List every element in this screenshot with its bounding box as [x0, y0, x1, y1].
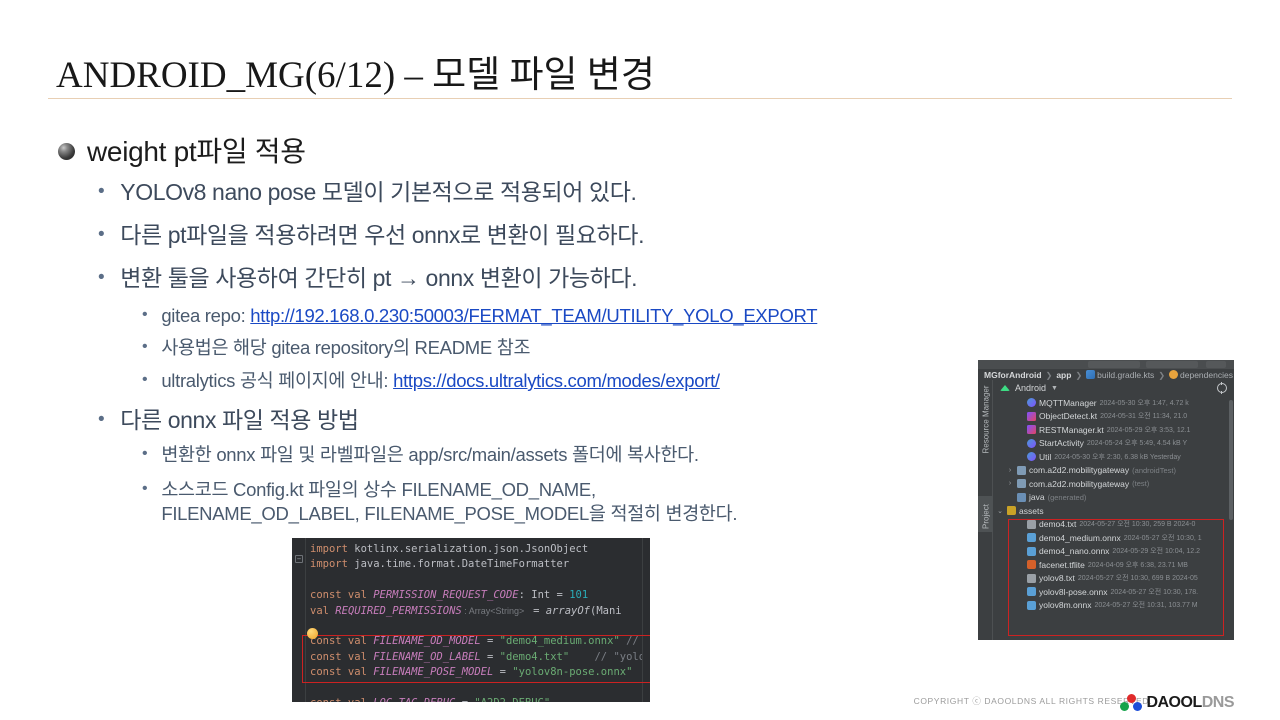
breadcrumb-item[interactable]: MGforAndroid [984, 370, 1042, 380]
tree-item-name: assets [1019, 506, 1044, 516]
bullet-dot-icon: • [98, 178, 104, 206]
tree-item-meta: 2024-05-27 오전 10:31, 103.77 M [1094, 600, 1197, 610]
code-editor-screenshot: − import kotlinx.serialization.json.Json… [292, 538, 650, 702]
logo-mark-icon [1120, 694, 1142, 712]
tree-item-qualifier: (generated) [1048, 493, 1087, 502]
breadcrumb-label: dependencies [1180, 370, 1233, 380]
code-token: : Int = [519, 589, 570, 601]
tab-project[interactable]: Project [982, 500, 991, 534]
code-token: : Array<String> [462, 606, 527, 616]
breadcrumb-item[interactable]: build.gradle.kts [1086, 370, 1154, 380]
breadcrumb: MGforAndroid❯app❯build.gradle.kts❯depend… [984, 370, 1233, 380]
code-line [310, 573, 645, 588]
bullet-label: YOLOv8 nano pose 모델이 기본적으로 적용되어 있다. [120, 178, 636, 208]
code-line: import java.time.format.DateTimeFormatte… [310, 557, 645, 572]
sub-bullet-label: 소스코드 Config.kt 파일의 상수 FILENAME_OD_NAME, … [161, 478, 991, 527]
package-icon [1017, 479, 1026, 488]
kt-class-icon [1027, 398, 1036, 407]
expand-arrow-icon[interactable]: ⌄ [996, 507, 1004, 515]
tree-item-meta: 2024-05-27 오전 10:30, 178. [1111, 587, 1199, 597]
code-line [310, 619, 645, 634]
bullet-dot-icon: • [98, 406, 104, 434]
tree-item-name: MQTTManager [1039, 398, 1097, 408]
kt-file-icon [1027, 412, 1036, 421]
toolbar-pill-2[interactable] [1146, 361, 1198, 368]
tree-row[interactable]: java(generated) [994, 491, 1234, 505]
tree-item-name: ObjectDetect.kt [1039, 411, 1097, 421]
code-token: PERMISSION_REQUEST_CODE [373, 589, 518, 601]
logo-circle-blue [1133, 702, 1142, 711]
gitea-repo-link[interactable]: http://192.168.0.230:50003/FERMAT_TEAM/U… [250, 305, 817, 326]
logo-word-gray: DNS [1202, 694, 1234, 711]
logo-circle-green [1120, 702, 1129, 711]
onnx-icon [1027, 601, 1036, 610]
breadcrumb-label: MGforAndroid [984, 370, 1042, 380]
code-line: const val LOG_TAG_DEBUG = "A2D2_DEBUG" [310, 696, 645, 702]
tree-row[interactable]: yolov8m.onnx2024-05-27 오전 10:31, 103.77 … [994, 599, 1234, 613]
code-token: = [527, 605, 546, 617]
tree-item-meta: 2024-05-27 오전 10:30, 1 [1124, 533, 1202, 543]
tree-row[interactable]: ObjectDetect.kt2024-05-31 오전 11:34, 21.0 [994, 410, 1234, 424]
toolbar-pill-3[interactable] [1206, 361, 1226, 368]
ide-left-toolwindow-bar: Resource Manager Project [978, 380, 993, 640]
bullet-item-3: • 변환 툴을 사용하여 간단히 pt → onnx 변환이 가능하다. [98, 264, 637, 294]
breadcrumb-separator-icon: ❯ [1075, 371, 1082, 380]
gear-icon[interactable] [1217, 383, 1227, 393]
company-logo: DAOOLDNS [1120, 694, 1234, 712]
tree-item-meta: 2024-05-29 오후 3:53, 12.1 [1107, 425, 1191, 435]
bullet-dot-icon: • [142, 304, 147, 326]
tree-item-name: yolov8.txt [1039, 573, 1075, 583]
tree-item-meta: 2024-05-24 오후 5:49, 4.54 kB Y [1087, 438, 1187, 448]
tree-row[interactable]: ›com.a2d2.mobilitygateway(test) [994, 477, 1234, 491]
sub-bullet-label: gitea repo: http://192.168.0.230:50003/F… [161, 304, 817, 328]
onnx-icon [1027, 547, 1036, 556]
ide-top-toolbar [978, 360, 1234, 369]
project-view-header: Android ▼ [994, 380, 1234, 396]
onnx-icon [1027, 533, 1036, 542]
sub-bullet-ultralytics: • ultralytics 공식 페이지에 안내: https://docs.u… [142, 369, 720, 393]
sub-bullet-label: 변환한 onnx 파일 및 라벨파일은 app/src/main/assets … [161, 443, 698, 467]
tree-row[interactable]: demo4.txt2024-05-27 오전 10:30, 259 B 2024… [994, 518, 1234, 532]
sub-bullet-gitea-repo: • gitea repo: http://192.168.0.230:50003… [142, 304, 817, 328]
tree-item-meta: 2024-05-30 오후 2:30, 6.38 kB Yesterday [1054, 452, 1181, 462]
expand-arrow-icon[interactable]: › [1006, 467, 1014, 474]
tree-item-name: yolov8l-pose.onnx [1039, 587, 1108, 597]
tree-item-meta: 2024-05-30 오후 1:47, 4.72 k [1100, 398, 1189, 408]
code-token: = [455, 697, 474, 702]
tree-item-meta: 2024-05-27 오전 10:30, 699 B 2024-05 [1078, 573, 1198, 583]
tree-scrollbar[interactable] [1229, 400, 1233, 520]
tree-item-name: demo4_nano.onnx [1039, 546, 1109, 556]
breadcrumb-label: build.gradle.kts [1097, 370, 1154, 380]
bullet-item-1: • YOLOv8 nano pose 모델이 기본적으로 적용되어 있다. [98, 178, 636, 208]
sub-bullet-readme: • 사용법은 해당 gitea repository의 README 참조 [142, 336, 530, 360]
code-token: 101 [569, 589, 588, 601]
code-token: const val [310, 697, 373, 702]
expand-arrow-icon[interactable]: › [1006, 480, 1014, 487]
tree-row[interactable]: Util2024-05-30 오후 2:30, 6.38 kB Yesterda… [994, 450, 1234, 464]
tree-item-name: com.a2d2.mobilitygateway [1029, 479, 1129, 489]
tree-item-qualifier: (androidTest) [1132, 466, 1176, 475]
tree-item-meta: 2024-04-09 오후 6:38, 23.71 MB [1088, 560, 1188, 570]
code-token: (Mani [590, 605, 622, 617]
tree-row[interactable]: RESTManager.kt2024-05-29 오후 3:53, 12.1 [994, 423, 1234, 437]
code-token: REQUIRED_PERMISSIONS [335, 605, 461, 617]
code-token: kotlinx.serialization.json.JsonObject [354, 543, 588, 555]
tree-item-name: com.a2d2.mobilitygateway [1029, 465, 1129, 475]
logo-word-dark: DAOOL [1146, 694, 1201, 711]
intention-bulb-icon[interactable] [307, 628, 318, 639]
project-view-mode-label[interactable]: Android [1015, 383, 1046, 393]
toolbar-pill-1[interactable] [1088, 361, 1140, 368]
code-line: const val PERMISSION_REQUEST_CODE: Int =… [310, 588, 645, 603]
code-line: import kotlinx.serialization.json.JsonOb… [310, 542, 645, 557]
code-token: import [310, 543, 354, 555]
section-heading-label: weight pt파일 적용 [87, 130, 306, 170]
java-gen-icon [1017, 493, 1026, 502]
folder-icon [1007, 506, 1016, 515]
page-title: ANDROID_MG(6/12) – 모델 파일 변경 [56, 44, 655, 98]
code-highlight-box [302, 635, 650, 683]
bullet-dot-icon: • [98, 221, 104, 249]
tree-item-name: java [1029, 492, 1045, 502]
onnx-icon [1027, 587, 1036, 596]
project-file-tree[interactable]: MQTTManager2024-05-30 오후 1:47, 4.72 kObj… [994, 396, 1234, 640]
txt-icon [1027, 574, 1036, 583]
bullet-dot-icon: • [142, 336, 147, 358]
logo-wordmark: DAOOLDNS [1146, 694, 1234, 712]
tree-item-meta: 2024-05-29 오전 10:04, 12.2 [1112, 546, 1200, 556]
breadcrumb-item[interactable]: dependencies [1169, 370, 1233, 380]
sphere-bullet-icon [58, 143, 75, 160]
bullet-item-2: • 다른 pt파일을 적용하려면 우선 onnx로 변환이 필요하다. [98, 221, 644, 251]
ultralytics-docs-link[interactable]: https://docs.ultralytics.com/modes/expor… [393, 370, 720, 391]
bullet-label: 변환 툴을 사용하여 간단히 pt → onnx 변환이 가능하다. [120, 264, 637, 294]
gradle-icon [1086, 370, 1095, 379]
bullet-label: 다른 onnx 파일 적용 방법 [120, 406, 358, 436]
tree-item-name: demo4.txt [1039, 519, 1076, 529]
breadcrumb-separator-icon: ❯ [1158, 371, 1165, 380]
tree-row[interactable]: MQTTManager2024-05-30 오후 1:47, 4.72 k [994, 396, 1234, 410]
tree-row[interactable]: demo4_nano.onnx2024-05-29 오전 10:04, 12.2 [994, 545, 1234, 559]
sub-bullet-config-kt: • 소스코드 Config.kt 파일의 상수 FILENAME_OD_NAME… [142, 478, 991, 527]
tree-item-meta: 2024-05-31 오전 11:34, 21.0 [1100, 411, 1187, 421]
tree-item-qualifier: (test) [1132, 479, 1149, 488]
chevron-down-icon[interactable]: ▼ [1051, 385, 1058, 392]
code-token: "A2D2_DEBUG" [474, 697, 550, 702]
copyright-text: COPYRIGHT ⓒ DAOOLDNS ALL RIGHTS RESERVED… [914, 695, 1152, 707]
dependency-icon [1169, 370, 1178, 379]
bullet-item-4: • 다른 onnx 파일 적용 방법 [98, 406, 359, 436]
sub-bullet-label: ultralytics 공식 페이지에 안내: https://docs.ult… [161, 369, 719, 393]
breadcrumb-label: app [1056, 370, 1071, 380]
tree-row[interactable]: facenet.tflite2024-04-09 오후 6:38, 23.71 … [994, 558, 1234, 572]
tree-item-name: Util [1039, 452, 1051, 462]
tree-row[interactable]: ⌄assets [994, 504, 1234, 518]
tree-item-name: StartActivity [1039, 438, 1084, 448]
code-token: const val [310, 589, 373, 601]
tree-row[interactable]: demo4_medium.onnx2024-05-27 오전 10:30, 1 [994, 531, 1234, 545]
tree-item-meta: 2024-05-27 오전 10:30, 259 B 2024-0 [1079, 519, 1195, 529]
bullet-dot-icon: • [142, 478, 147, 500]
tree-row[interactable]: ›com.a2d2.mobilitygateway(androidTest) [994, 464, 1234, 478]
tree-item-name: yolov8m.onnx [1039, 600, 1091, 610]
code-line: val REQUIRED_PERMISSIONS : Array<String>… [310, 604, 645, 619]
tree-row[interactable]: yolov8.txt2024-05-27 오전 10:30, 699 B 202… [994, 572, 1234, 586]
kt-class-icon [1027, 452, 1036, 461]
sub-bullet-prefix: ultralytics 공식 페이지에 안내: [161, 370, 393, 391]
bullet-dot-icon: • [142, 443, 147, 465]
breadcrumb-item[interactable]: app [1056, 370, 1071, 380]
kt-file-icon [1027, 425, 1036, 434]
android-studio-project-panel: MGforAndroid❯app❯build.gradle.kts❯depend… [978, 360, 1234, 640]
code-token: val [310, 605, 335, 617]
section-heading: weight pt파일 적용 [58, 130, 306, 170]
bullet-dot-icon: • [142, 369, 147, 391]
sub-bullet-label: 사용법은 해당 gitea repository의 README 참조 [161, 336, 530, 360]
tree-item-name: RESTManager.kt [1039, 425, 1104, 435]
code-token: arrayOf [546, 605, 590, 617]
code-token: LOG_TAG_DEBUG [373, 697, 455, 702]
tree-row[interactable]: StartActivity2024-05-24 오후 5:49, 4.54 kB… [994, 437, 1234, 451]
code-fold-icon[interactable]: − [295, 555, 303, 563]
tree-item-name: demo4_medium.onnx [1039, 533, 1121, 543]
android-robot-icon [1000, 385, 1010, 391]
breadcrumb-separator-icon: ❯ [1046, 371, 1053, 380]
sub-bullet-prefix: gitea repo: [161, 305, 250, 326]
tflite-icon [1027, 560, 1036, 569]
package-icon [1017, 466, 1026, 475]
kt-class-icon [1027, 439, 1036, 448]
txt-icon [1027, 520, 1036, 529]
tree-row[interactable]: yolov8l-pose.onnx2024-05-27 오전 10:30, 17… [994, 585, 1234, 599]
tab-resource-manager[interactable]: Resource Manager [982, 400, 991, 454]
code-token: import [310, 558, 354, 570]
bullet-dot-icon: • [98, 264, 104, 292]
sub-bullet-copy-assets: • 변환한 onnx 파일 및 라벨파일은 app/src/main/asset… [142, 443, 699, 467]
code-token: java.time.format.DateTimeFormatter [354, 558, 569, 570]
title-divider [48, 98, 1232, 99]
tree-item-name: facenet.tflite [1039, 560, 1085, 570]
bullet-label: 다른 pt파일을 적용하려면 우선 onnx로 변환이 필요하다. [120, 221, 644, 251]
